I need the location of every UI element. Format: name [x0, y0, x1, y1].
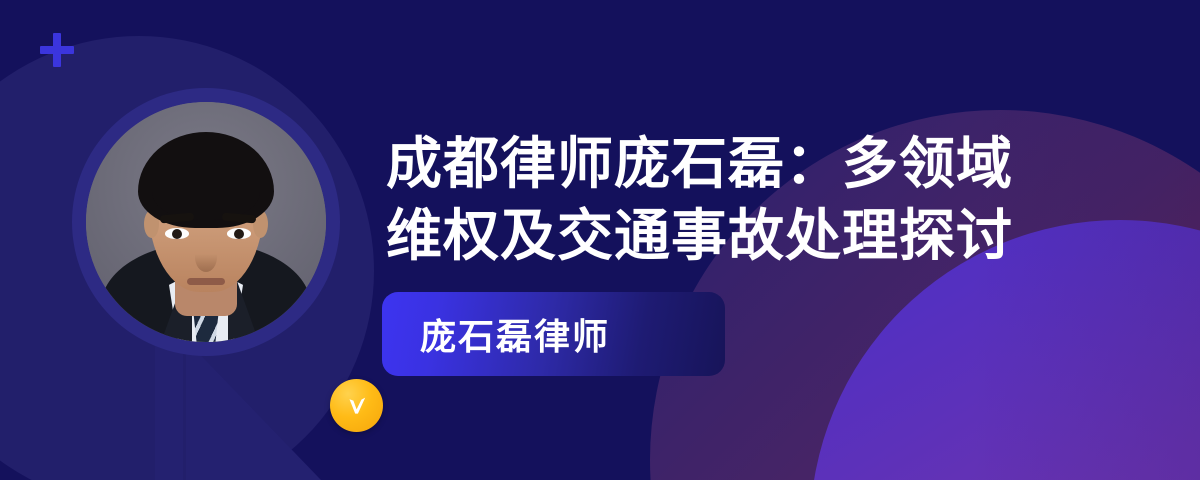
headline-block: 成都律师庞石磊：多领域 维权及交通事故处理探讨	[386, 128, 1086, 272]
lawyer-name-label: 庞石磊律师	[382, 308, 610, 360]
headline-line-1: 成都律师庞石磊：多领域	[386, 128, 1086, 200]
verified-check-icon	[330, 379, 383, 432]
headline-line-2: 维权及交通事故处理探讨	[386, 200, 1086, 272]
avatar	[72, 88, 340, 356]
promo-banner: 成都律师庞石磊：多领域 维权及交通事故处理探讨 庞石磊律师	[0, 0, 1200, 480]
lawyer-name-chip[interactable]: 庞石磊律师	[382, 292, 725, 376]
page-title: 成都律师庞石磊：多领域 维权及交通事故处理探讨	[386, 128, 1086, 272]
plus-icon	[40, 33, 74, 67]
decorative-triangle	[186, 340, 321, 480]
avatar-photo	[86, 102, 326, 342]
